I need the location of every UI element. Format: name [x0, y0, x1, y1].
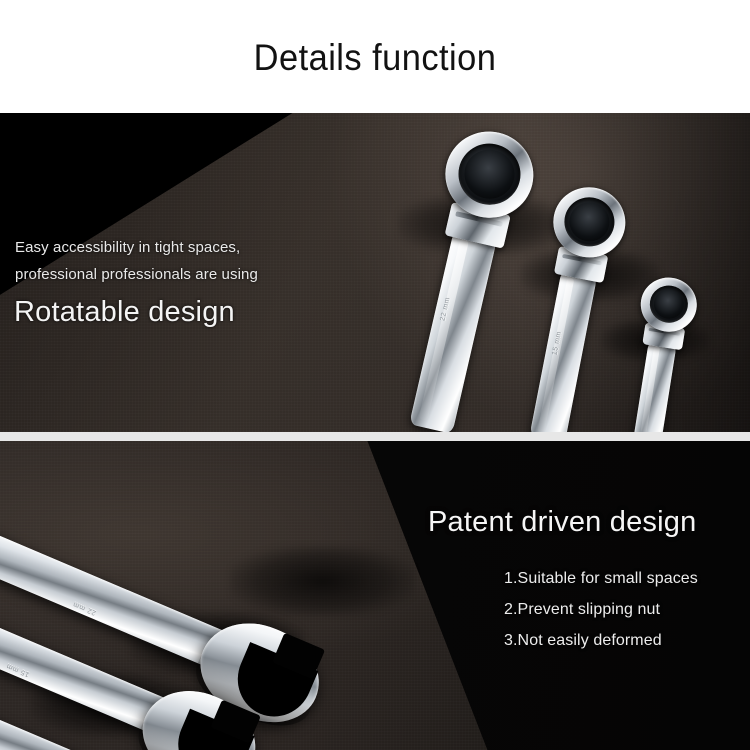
list-item: 2.Prevent slipping nut: [504, 594, 698, 625]
list-item: 1.Suitable for small spaces: [504, 563, 698, 594]
title-band: Details function: [0, 0, 750, 113]
page-title: Details function: [26, 36, 724, 80]
patent-heading: Patent driven design: [428, 505, 696, 539]
rotatable-design-panel: 22 mm 15 mm: [0, 113, 750, 432]
wrench-shadow: [230, 546, 415, 616]
rotatable-heading: Rotatable design: [14, 295, 235, 329]
list-item: 3.Not easily deformed: [504, 625, 698, 656]
patent-feature-list: 1.Suitable for small spaces 2.Prevent sl…: [504, 563, 698, 656]
product-detail-image: Details function 22 mm: [0, 0, 750, 750]
patent-design-panel: 22 mm 15 mm CHROME 17 mm: [0, 441, 750, 750]
rotatable-body-text: Easy accessibility in tight spaces, prof…: [15, 235, 290, 288]
panel-separator: [0, 432, 750, 441]
